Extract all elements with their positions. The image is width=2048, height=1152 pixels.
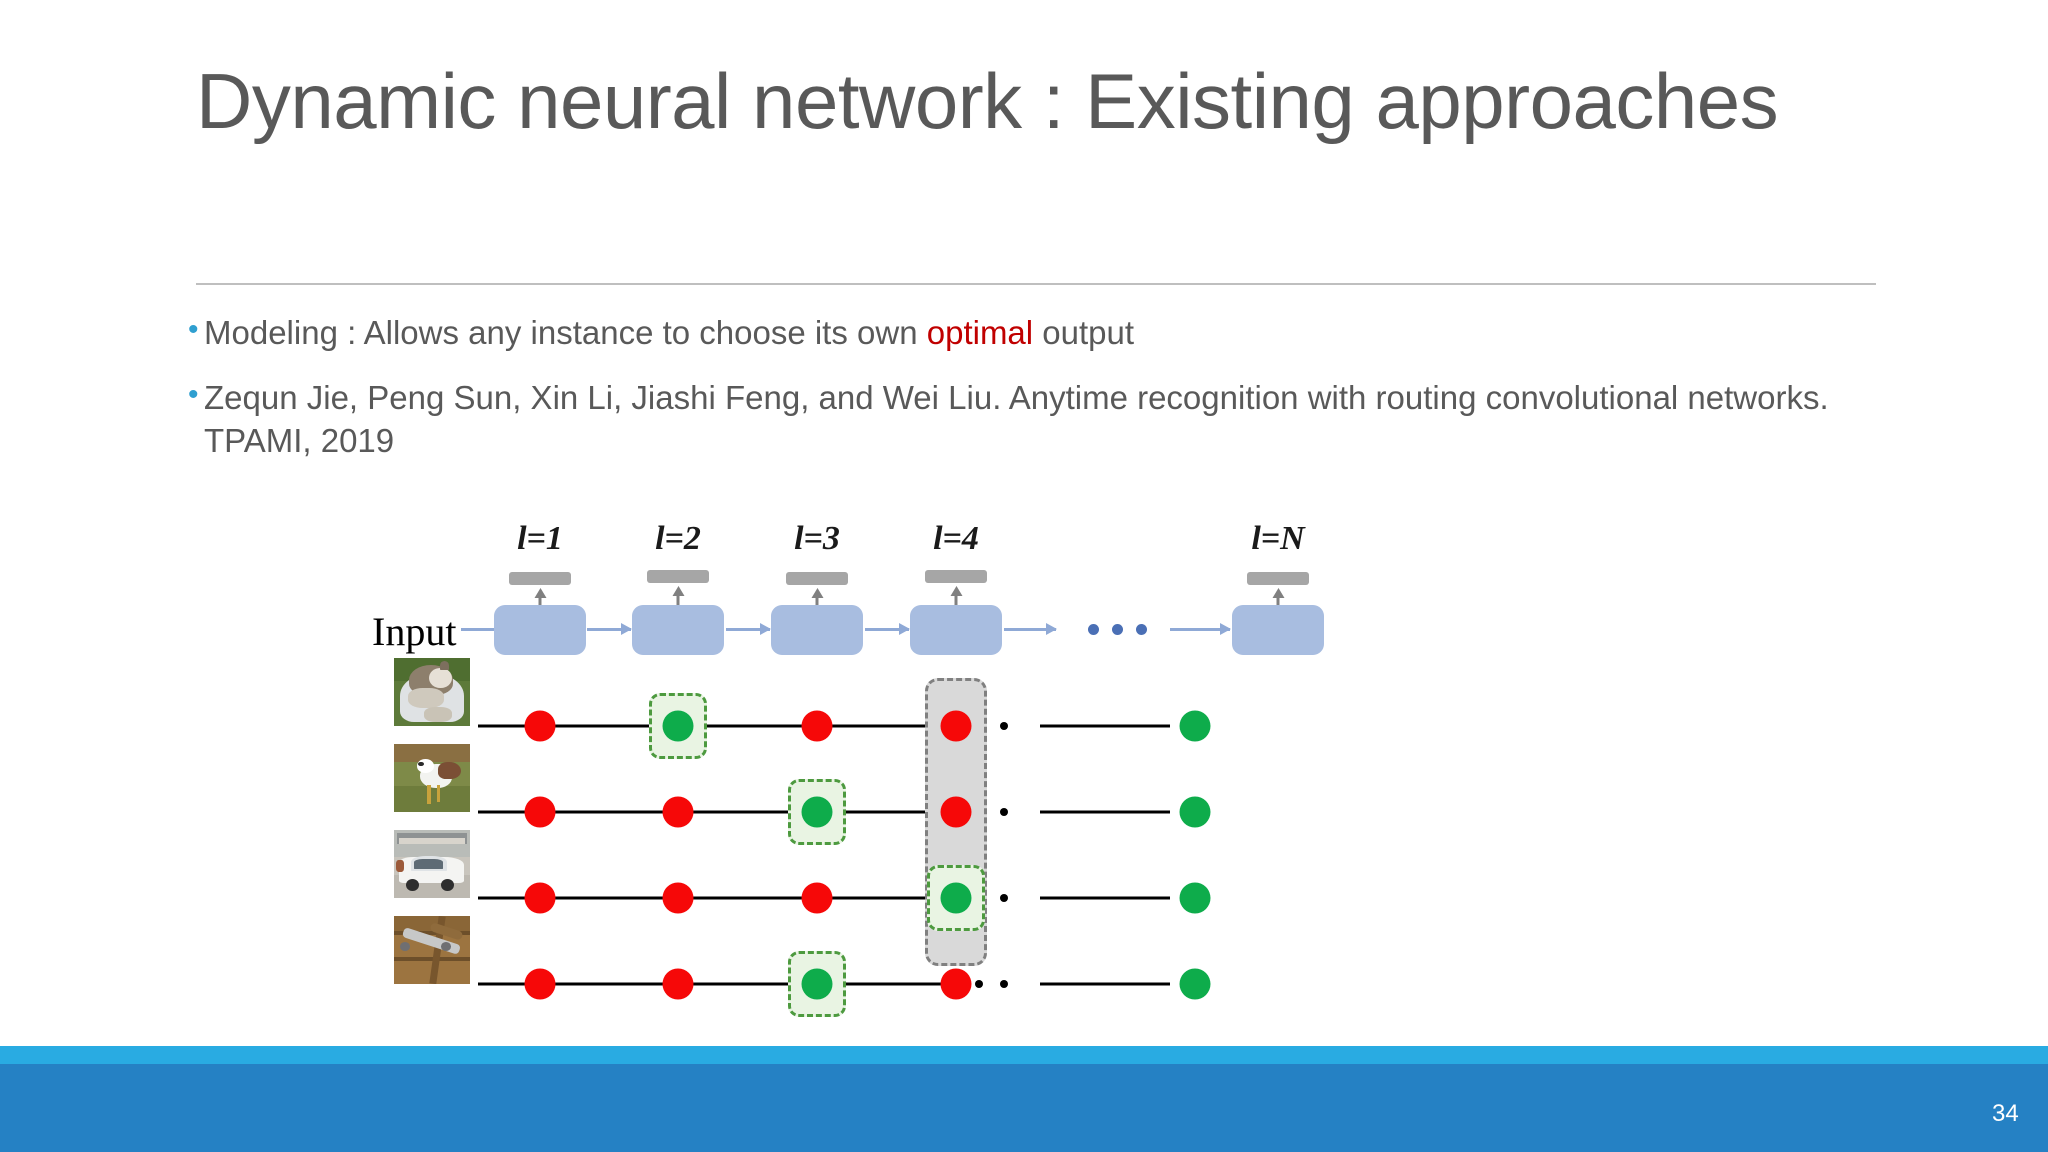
page-number: 34 <box>1847 1100 2047 1128</box>
layer-label-2: l=2 <box>623 520 733 558</box>
ellipsis-dot <box>1088 624 1099 635</box>
bullet-list: • Modeling : Allows any instance to choo… <box>188 312 1888 485</box>
bullet-item-modeling: • Modeling : Allows any instance to choo… <box>188 312 1888 355</box>
cat-thumbnail <box>394 658 470 726</box>
network-block-n <box>1232 605 1324 655</box>
bullet-modeling-highlight: optimal <box>927 314 1033 351</box>
footer-band <box>0 1064 2048 1152</box>
car-thumbnail <box>394 830 470 898</box>
slide-canvas: Dynamic neural network : Existing approa… <box>0 0 2048 1152</box>
node-row1-layer3[interactable] <box>802 711 833 742</box>
classifier-bar-1 <box>509 572 571 585</box>
ellipsis-dot <box>1000 722 1008 730</box>
title-divider <box>196 283 1876 285</box>
node-row3-layer1[interactable] <box>525 883 556 914</box>
layer-label-1: l=1 <box>485 520 595 558</box>
node-row2-layer1[interactable] <box>525 797 556 828</box>
flow-arrow-icon-1-2 <box>587 628 631 631</box>
bullet-modeling-pre: Modeling : Allows any instance to choose… <box>204 314 927 351</box>
block-ellipsis-icon <box>1088 624 1147 635</box>
node-row2-layer2[interactable] <box>663 797 694 828</box>
page-title: Dynamic neural network : Existing approa… <box>196 58 1896 145</box>
classifier-bar-4 <box>925 570 987 583</box>
node-row3-layerN[interactable] <box>1180 883 1211 914</box>
bird-thumbnail <box>394 744 470 812</box>
bullet-marker-icon: • <box>188 375 204 414</box>
flow-arrow-icon-3-4 <box>865 628 909 631</box>
row-line-3-tail <box>1040 897 1170 900</box>
citation-line-1: Zequn Jie, Peng Sun, Xin Li, Jiashi Feng… <box>204 379 1476 416</box>
node-row3-layer2[interactable] <box>663 883 694 914</box>
classifier-bar-3 <box>786 572 848 585</box>
node-row2-layer4[interactable] <box>941 797 972 828</box>
row-line-1-tail <box>1040 725 1170 728</box>
layer-label-4: l=4 <box>901 520 1011 558</box>
node-row4-layer3[interactable] <box>802 969 833 1000</box>
network-block-3 <box>771 605 863 655</box>
node-row4-layer4[interactable] <box>941 969 972 1000</box>
node-row4-layer2[interactable] <box>663 969 694 1000</box>
node-row1-layer2[interactable] <box>663 711 694 742</box>
flow-arrow-icon-ellipsis-n <box>1170 628 1230 631</box>
node-row1-layerN[interactable] <box>1180 711 1211 742</box>
network-block-1 <box>494 605 586 655</box>
layer-label-3: l=3 <box>762 520 872 558</box>
node-row2-layerN[interactable] <box>1180 797 1211 828</box>
ellipsis-dot <box>1136 624 1147 635</box>
footer-accent-strip <box>0 1046 2048 1064</box>
bullet-item-citation: • Zequn Jie, Peng Sun, Xin Li, Jiashi Fe… <box>188 377 1888 463</box>
bullet-modeling-post: output <box>1033 314 1134 351</box>
input-label: Input <box>372 608 456 655</box>
node-row4-layerN[interactable] <box>1180 969 1211 1000</box>
node-row4-layer1[interactable] <box>525 969 556 1000</box>
flow-arrow-icon-2-3 <box>726 628 770 631</box>
network-block-4 <box>910 605 1002 655</box>
node-row3-layer4[interactable] <box>941 883 972 914</box>
ellipsis-dot <box>1112 624 1123 635</box>
node-row2-layer3[interactable] <box>802 797 833 828</box>
classifier-bar-2 <box>647 570 709 583</box>
ellipsis-dot <box>1000 980 1008 988</box>
network-block-2 <box>632 605 724 655</box>
ellipsis-dot <box>1000 894 1008 902</box>
bullet-marker-icon: • <box>188 310 204 349</box>
knife-thumbnail <box>394 916 470 984</box>
classifier-bar-n <box>1247 572 1309 585</box>
ellipsis-dot <box>975 980 983 988</box>
bullet-text-citation: Zequn Jie, Peng Sun, Xin Li, Jiashi Feng… <box>204 377 1888 463</box>
node-row3-layer3[interactable] <box>802 883 833 914</box>
row-line-4-tail <box>1040 983 1170 986</box>
bullet-text-modeling: Modeling : Allows any instance to choose… <box>204 312 1888 355</box>
routing-network-figure: l=1 l=2 l=3 l=4 l=N Input <box>470 520 1480 1040</box>
node-row1-layer4[interactable] <box>941 711 972 742</box>
row-line-2-tail <box>1040 811 1170 814</box>
ellipsis-dot <box>1000 808 1008 816</box>
node-row1-layer1[interactable] <box>525 711 556 742</box>
flow-arrow-icon-4-ellipsis <box>1004 628 1056 631</box>
layer-label-n: l=N <box>1223 520 1333 558</box>
